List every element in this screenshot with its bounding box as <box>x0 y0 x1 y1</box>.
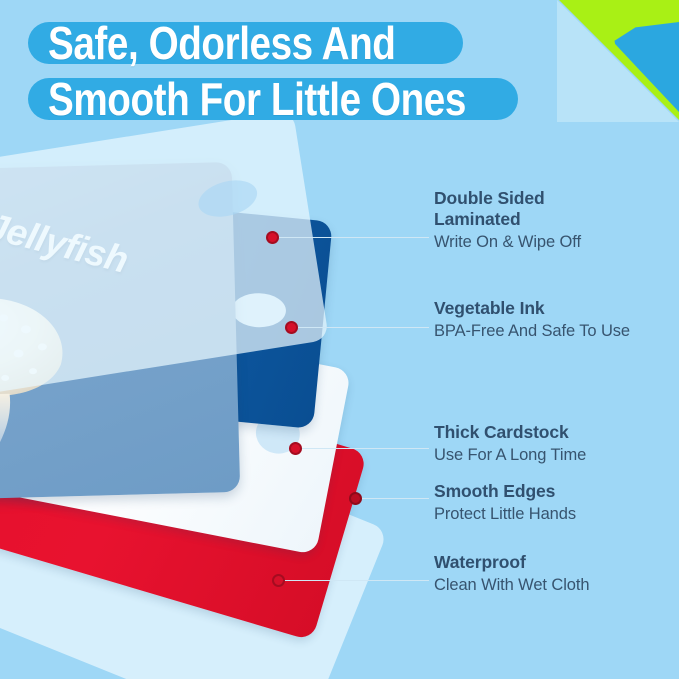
feature-title-line-1: Double Sided <box>434 188 545 208</box>
headline-line-1: Safe, Odorless And <box>48 20 395 66</box>
feature-title-line-2: Laminated <box>434 209 521 229</box>
headline-line-2: Smooth For Little Ones <box>48 76 466 122</box>
callout-dot-5 <box>272 574 285 587</box>
headline-pill-line-2: Smooth For Little Ones <box>28 78 518 120</box>
headline-block: Safe, Odorless And Smooth For Little One… <box>28 22 679 134</box>
feature-thick-cardstock: Thick Cardstock Use For A Long Time <box>434 422 586 466</box>
feature-waterproof: Waterproof Clean With Wet Cloth <box>434 552 589 596</box>
leader-line-3 <box>300 448 429 449</box>
feature-double-sided-laminated: Double Sided Laminated Write On & Wipe O… <box>434 188 581 253</box>
leader-line-4 <box>360 498 429 499</box>
leader-line-2 <box>296 327 429 328</box>
feature-title: Smooth Edges <box>434 481 576 502</box>
callout-dot-3 <box>289 442 302 455</box>
leader-line-5 <box>283 580 429 581</box>
feature-subtitle: Clean With Wet Cloth <box>434 575 589 596</box>
callout-dot-4 <box>349 492 362 505</box>
feature-title: Thick Cardstock <box>434 422 586 443</box>
feature-title: Waterproof <box>434 552 589 573</box>
feature-title: Double Sided Laminated <box>434 188 581 230</box>
leader-line-1 <box>277 237 429 238</box>
feature-subtitle: Protect Little Hands <box>434 504 576 525</box>
callout-dot-2 <box>285 321 298 334</box>
feature-subtitle: Use For A Long Time <box>434 445 586 466</box>
feature-subtitle: Write On & Wipe Off <box>434 232 581 253</box>
callout-dot-1 <box>266 231 279 244</box>
feature-smooth-edges: Smooth Edges Protect Little Hands <box>434 481 576 525</box>
feature-subtitle: BPA-Free And Safe To Use <box>434 321 630 342</box>
feature-title: Vegetable Ink <box>434 298 630 319</box>
headline-pill-line-1: Safe, Odorless And <box>28 22 463 64</box>
product-infographic: Safe, Odorless And Smooth For Little One… <box>0 0 679 679</box>
feature-vegetable-ink: Vegetable Ink BPA-Free And Safe To Use <box>434 298 630 342</box>
